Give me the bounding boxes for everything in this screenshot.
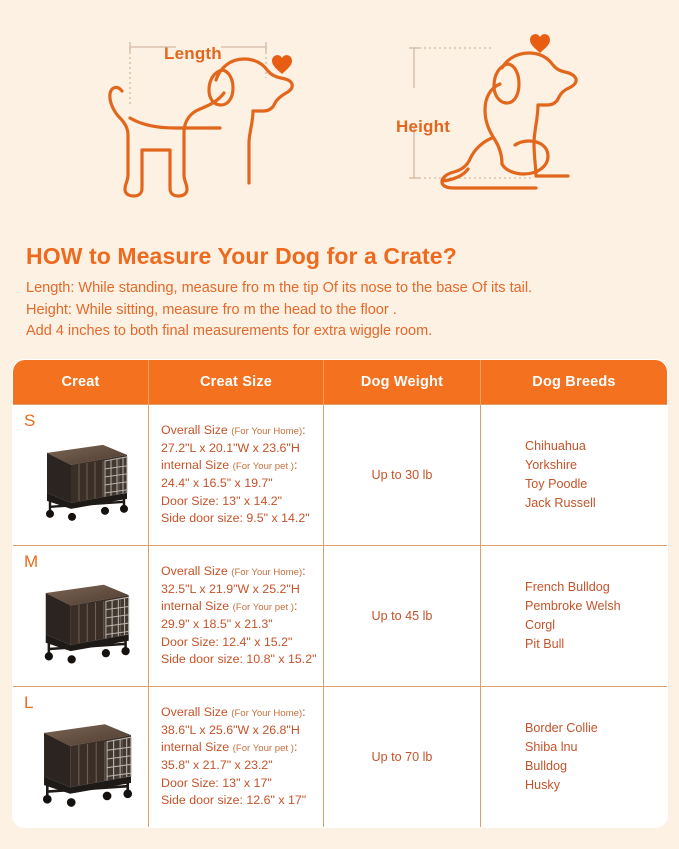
intro-line-wiggle: Add 4 inches to both final measurements …	[26, 321, 666, 342]
internal-size-line: internal Size (For Your pet ):	[161, 739, 317, 757]
size-letter-l: L	[24, 693, 33, 713]
column-header-dog-breeds: Dog Breeds	[481, 360, 668, 405]
internal-size-label: internal Size	[161, 740, 229, 754]
heart-icon	[530, 34, 550, 53]
intro-line-length: Length: While standing, measure fro m th…	[26, 278, 666, 299]
internal-size-line: internal Size (For Your pet ):	[161, 457, 317, 475]
breed-item: Pit Bull	[525, 635, 666, 654]
table-row: L	[13, 687, 668, 828]
table-row: S	[13, 405, 668, 546]
breed-item: Toy Poodle	[525, 475, 666, 494]
column-header-crate: Creat	[13, 360, 149, 405]
side-door-size: Side door size: 10.8" x 15.2"	[161, 651, 317, 669]
internal-size-note: (For Your pet )	[233, 461, 294, 472]
length-label: Length	[164, 44, 222, 64]
dog-breeds-cell-m: French Bulldog Pembroke Welsh Corgl Pit …	[481, 546, 668, 687]
overall-size-value: 32.5"L x 21.9"W x 25.2"H	[161, 581, 317, 599]
door-size: Door Size: 13" x 17"	[161, 775, 317, 793]
overall-size-line: Overall Size (For Your Home):	[161, 422, 317, 440]
table-body: S	[13, 405, 668, 828]
size-letter-s: S	[24, 411, 35, 431]
overall-size-note: (For Your Home)	[231, 708, 302, 719]
overall-size-line: Overall Size (For Your Home):	[161, 704, 317, 722]
dog-breeds-cell-l: Border Collie Shiba lnu Bulldog Husky	[481, 687, 668, 828]
intro-line-height: Height: While sitting, measure fro m the…	[26, 300, 666, 321]
breed-item: Yorkshire	[525, 456, 666, 475]
breed-item: Chihuahua	[525, 437, 666, 456]
dog-weight-cell-m: Up to 45 lb	[324, 546, 481, 687]
overall-size-label: Overall Size	[161, 423, 228, 437]
door-size: Door Size: 13" x 14.2"	[161, 493, 317, 511]
internal-size-value: 29.9" x 18.5" x 21.3"	[161, 616, 317, 634]
crate-photo-s	[27, 431, 135, 523]
breed-item: Husky	[525, 776, 666, 795]
measurement-diagrams: Length Height	[0, 0, 679, 232]
size-letter-m: M	[24, 552, 38, 572]
page-title: HOW to Measure Your Dog for a Crate?	[26, 244, 666, 269]
dog-breeds-cell-s: Chihuahua Yorkshire Toy Poodle Jack Russ…	[481, 405, 668, 546]
crate-image-cell-m: M	[13, 546, 149, 687]
internal-size-label: internal Size	[161, 458, 229, 472]
column-header-dog-weight: Dog Weight	[324, 360, 481, 405]
intro-block: HOW to Measure Your Dog for a Crate? Len…	[26, 244, 666, 342]
crate-spec-cell-l: Overall Size (For Your Home): 38.6"L x 2…	[149, 687, 324, 828]
sitting-dog-outline	[442, 53, 576, 188]
internal-size-value: 24.4" x 16.5" x 19.7"	[161, 475, 317, 493]
overall-size-label: Overall Size	[161, 705, 228, 719]
door-size: Door Size: 12.4" x 15.2"	[161, 634, 317, 652]
crate-size-table: Creat Creat Size Dog Weight Dog Breeds S	[12, 359, 668, 828]
internal-size-value: 35.8" x 21.7" x 23.2"	[161, 757, 317, 775]
crate-photo-l	[22, 709, 140, 809]
crate-photo-m	[25, 570, 137, 666]
internal-size-label: internal Size	[161, 599, 229, 613]
overall-size-label: Overall Size	[161, 564, 228, 578]
overall-size-value: 38.6"L x 25.6"W x 26.8"H	[161, 722, 317, 740]
side-door-size: Side door size: 12.6" x 17"	[161, 792, 317, 810]
breed-item: Bulldog	[525, 757, 666, 776]
table-row: M	[13, 546, 668, 687]
crate-spec-cell-s: Overall Size (For Your Home): 27.2"L x 2…	[149, 405, 324, 546]
breed-item: Pembroke Welsh	[525, 597, 666, 616]
height-label: Height	[396, 117, 450, 137]
breed-item: Corgl	[525, 616, 666, 635]
crate-image-cell-l: L	[13, 687, 149, 828]
internal-size-line: internal Size (For Your pet ):	[161, 598, 317, 616]
dog-weight-cell-s: Up to 30 lb	[324, 405, 481, 546]
internal-size-note: (For Your pet )	[233, 602, 294, 613]
side-door-size: Side door size: 9.5" x 14.2"	[161, 510, 317, 528]
crate-image-cell-s: S	[13, 405, 149, 546]
heart-icon	[272, 55, 292, 74]
standing-dog-outline	[110, 59, 292, 196]
overall-size-line: Overall Size (For Your Home):	[161, 563, 317, 581]
column-header-crate-size: Creat Size	[149, 360, 324, 405]
breed-item: French Bulldog	[525, 578, 666, 597]
internal-size-note: (For Your pet )	[233, 743, 294, 754]
overall-size-value: 27.2"L x 20.1"W x 23.6"H	[161, 440, 317, 458]
overall-size-note: (For Your Home)	[231, 426, 302, 437]
table-header: Creat Creat Size Dog Weight Dog Breeds	[13, 360, 668, 405]
breed-item: Border Collie	[525, 719, 666, 738]
breed-item: Shiba lnu	[525, 738, 666, 757]
crate-spec-cell-m: Overall Size (For Your Home): 32.5"L x 2…	[149, 546, 324, 687]
breed-item: Jack Russell	[525, 494, 666, 513]
dog-weight-cell-l: Up to 70 lb	[324, 687, 481, 828]
overall-size-note: (For Your Home)	[231, 567, 302, 578]
height-diagram	[382, 18, 592, 203]
